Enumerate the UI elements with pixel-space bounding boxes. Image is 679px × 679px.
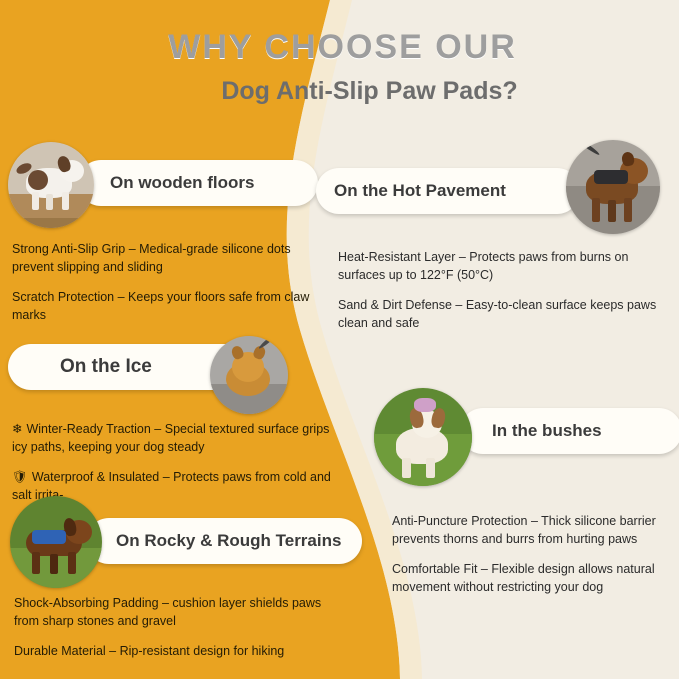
section-title-label: In the bushes: [492, 421, 602, 441]
snowflake-icon: ❄: [12, 420, 22, 438]
section-paragraph: Comfortable Fit – Flexible design allows…: [392, 560, 662, 596]
section-title-label: On Rocky & Rough Terrains: [116, 531, 341, 551]
section-body-hot-pavement: Heat-Resistant Layer – Protects paws fro…: [338, 248, 664, 345]
section-paragraph-with-snowflake: ❄Winter-Ready Traction – Special texture…: [12, 420, 338, 456]
photo-dog-in-snow: [210, 336, 288, 414]
section-paragraph: Shock-Absorbing Padding – cushion layer …: [14, 594, 330, 630]
section-body-bushes: Anti-Puncture Protection – Thick silicon…: [392, 512, 662, 609]
section-body-rocky-terrains: Shock-Absorbing Padding – cushion layer …: [14, 594, 330, 672]
section-paragraph: Durable Material – Rip-resistant design …: [14, 642, 330, 660]
section-title-label: On the Hot Pavement: [334, 181, 506, 201]
section-title-wooden-floors: On wooden floors: [78, 160, 318, 206]
photo-dog-on-wooden-floor: [8, 142, 94, 228]
photo-dog-on-hot-pavement: [566, 140, 660, 234]
section-paragraph: Sand & Dirt Defense – Easy-to-clean surf…: [338, 296, 664, 332]
section-body-wooden-floors: Strong Anti-Slip Grip – Medical-grade si…: [12, 240, 312, 337]
headline-line-1: WHY CHOOSE OUR: [0, 28, 679, 67]
section-paragraph: Winter-Ready Traction – Special textured…: [12, 422, 329, 454]
shield-icon: 🛡: [12, 468, 28, 486]
photo-dachshund-running: [10, 496, 102, 588]
section-paragraph: Anti-Puncture Protection – Thick silicon…: [392, 512, 662, 548]
section-title-rocky-terrains: On Rocky & Rough Terrains: [86, 518, 362, 564]
section-title-label: On wooden floors: [110, 173, 255, 193]
section-title-bushes: In the bushes: [460, 408, 679, 454]
section-paragraph: Strong Anti-Slip Grip – Medical-grade si…: [12, 240, 312, 276]
infographic-page: WHY CHOOSE OUR Dog Anti-Slip Paw Pads? O…: [0, 0, 679, 679]
section-title-hot-pavement: On the Hot Pavement: [316, 168, 580, 214]
section-title-label: On the Ice: [60, 356, 152, 378]
section-paragraph: Heat-Resistant Layer – Protects paws fro…: [338, 248, 664, 284]
section-paragraph: Scratch Protection – Keeps your floors s…: [12, 288, 312, 324]
photo-dog-in-grass: [374, 388, 472, 486]
headline-line-2: Dog Anti-Slip Paw Pads?: [0, 77, 679, 106]
page-title: WHY CHOOSE OUR Dog Anti-Slip Paw Pads?: [0, 28, 679, 106]
